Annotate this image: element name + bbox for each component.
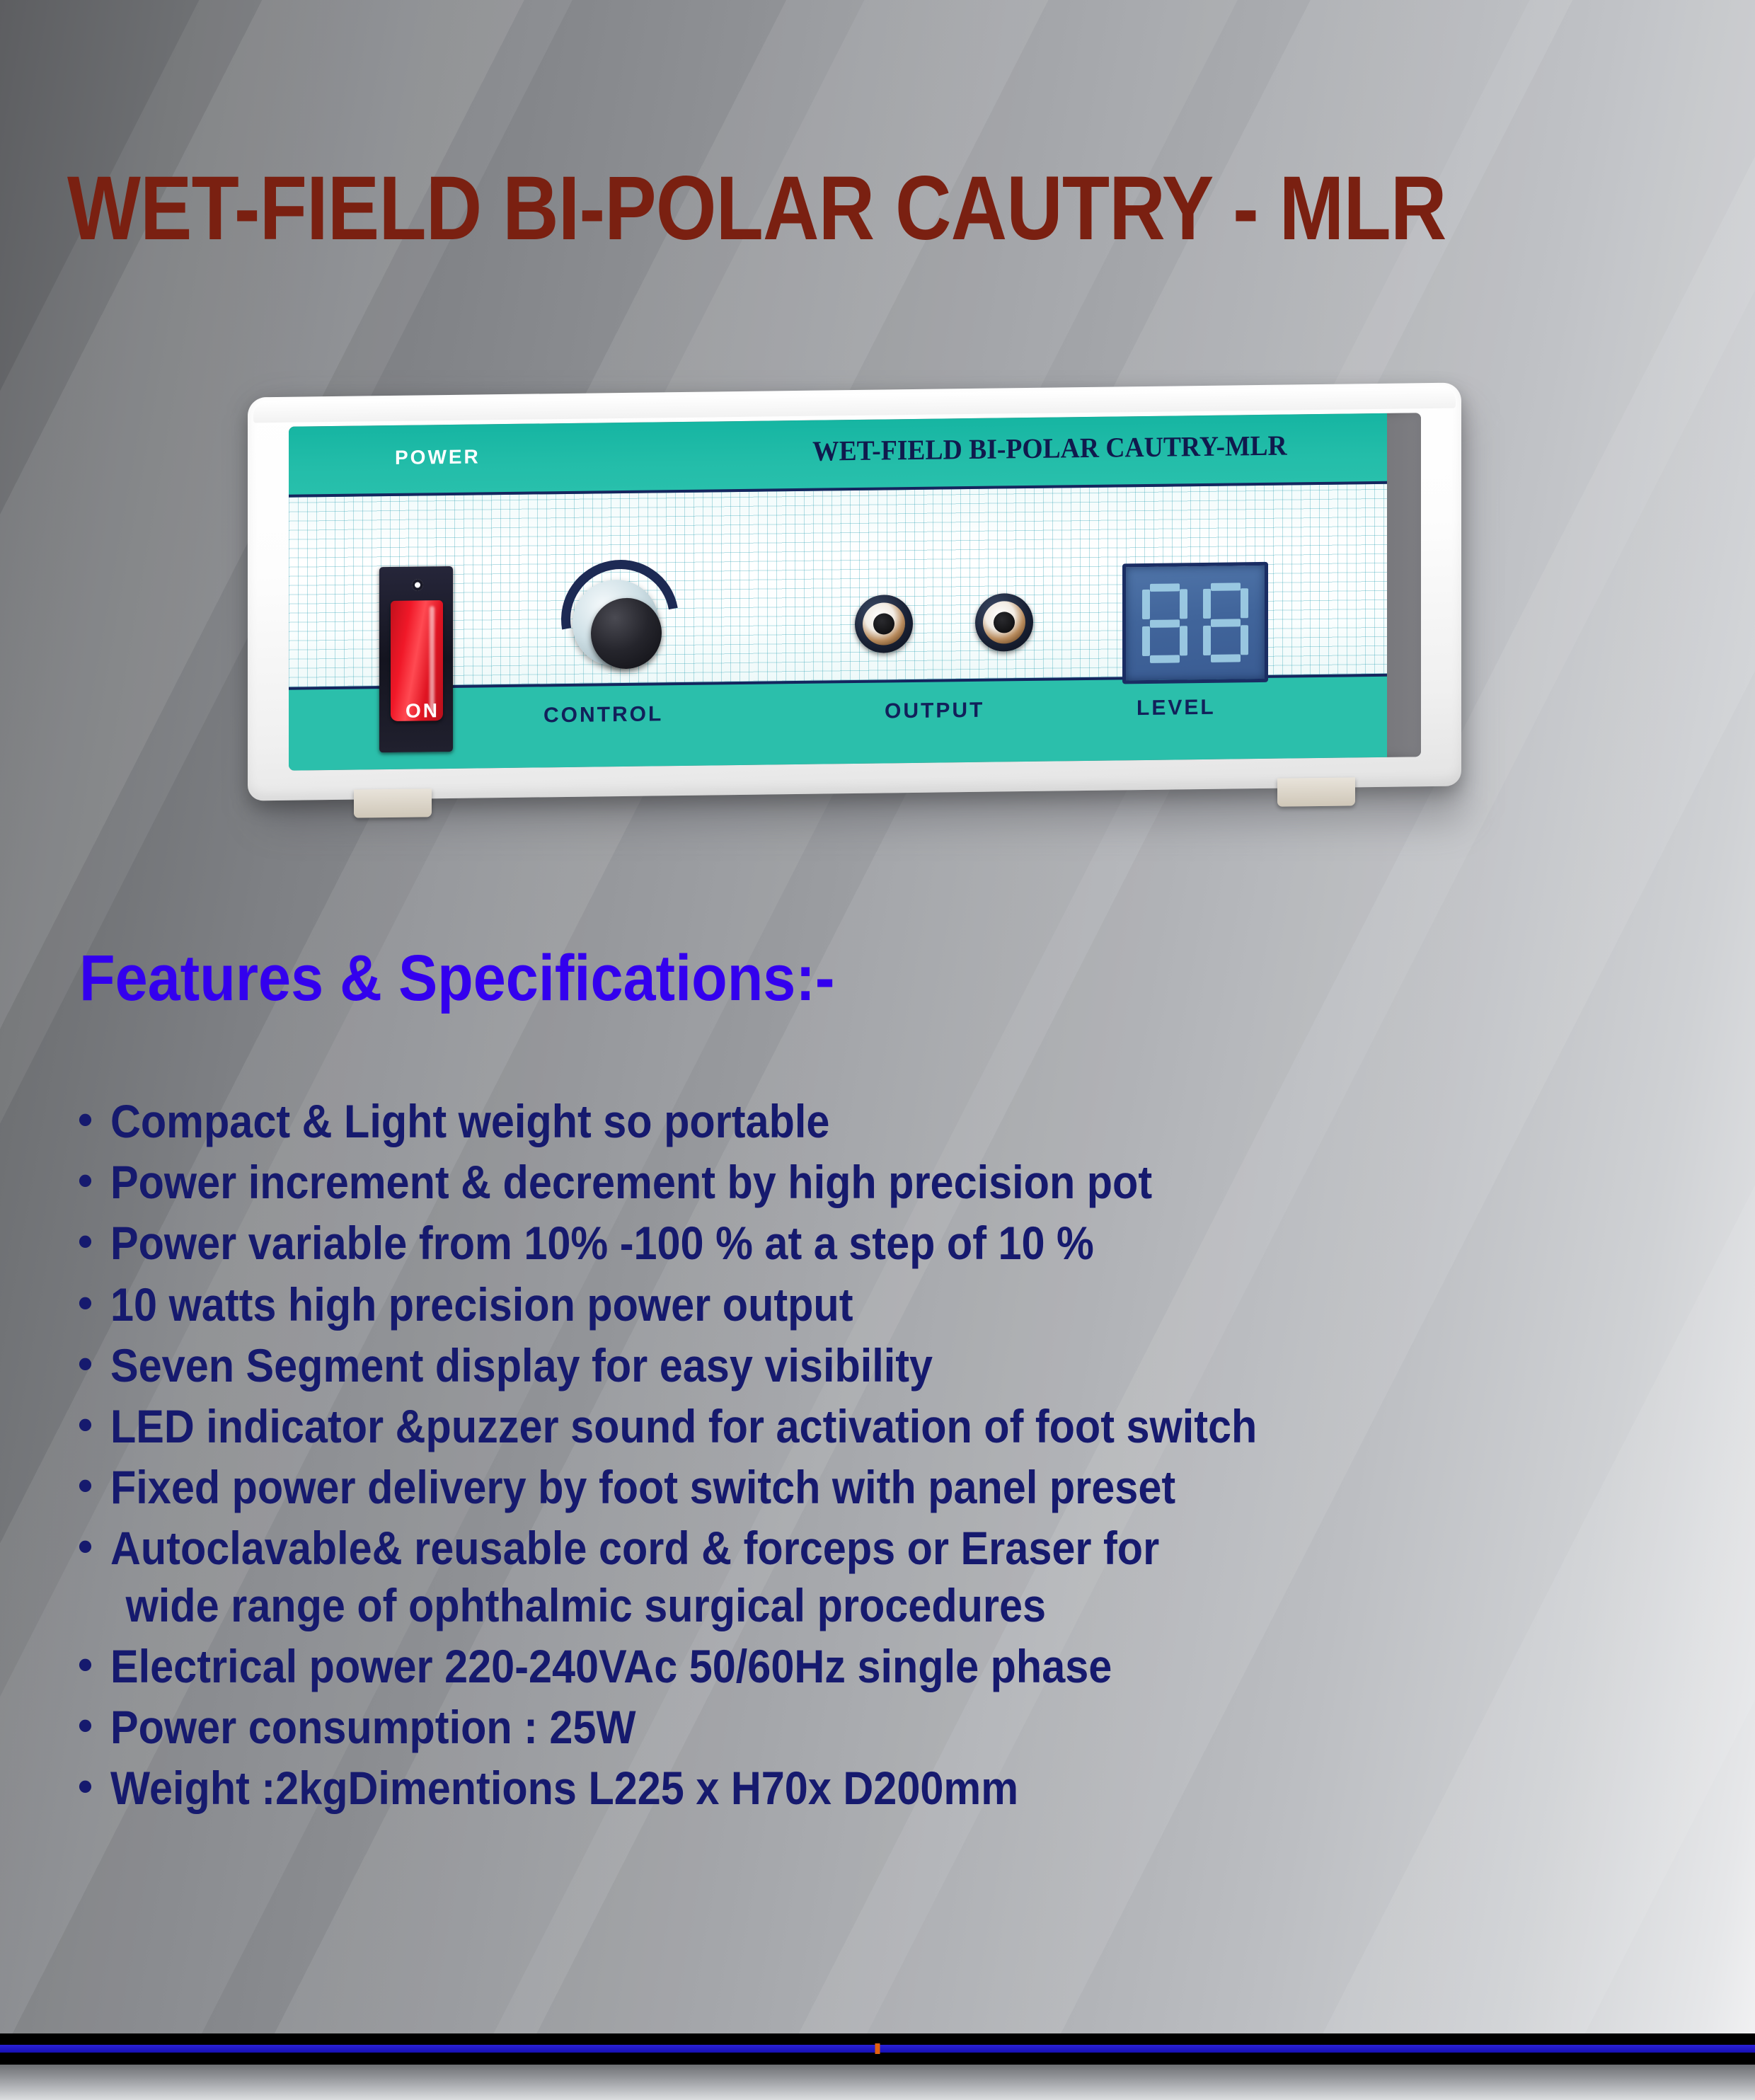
bullet-dot-icon: •: [78, 1399, 110, 1450]
output-label: OUTPUT: [885, 699, 984, 724]
panel-grid-band: CONTROL OUTPUT LEVEL: [289, 481, 1387, 690]
bullet-dot-icon: •: [78, 1520, 110, 1572]
device-enclosure: WET-FIELD BI-POLAR CAUTRY-MLR POWER: [248, 383, 1461, 801]
output-jack-1[interactable]: [855, 595, 913, 653]
feature-text: Seven Segment display for easy visibilit…: [110, 1338, 1534, 1394]
control-knob-assembly[interactable]: [561, 569, 667, 677]
feature-item: •Power variable from 10% -100 % at a ste…: [78, 1215, 1691, 1271]
feature-text: LED indicator &puzzer sound for activati…: [110, 1399, 1534, 1454]
power-label: POWER: [395, 445, 481, 469]
feature-text: Autoclavable& reusable cord & forceps or…: [110, 1520, 1534, 1576]
features-list: •Compact & Light weight so portable•Powe…: [78, 1094, 1691, 1821]
recess-shadow: [1387, 413, 1421, 757]
control-panel: WET-FIELD BI-POLAR CAUTRY-MLR POWER: [289, 413, 1387, 771]
feature-text: Weight :2kgDimentions L225 x H70x D200mm: [110, 1760, 1534, 1816]
feature-text: Fixed power delivery by foot switch with…: [110, 1459, 1534, 1515]
product-image: WET-FIELD BI-POLAR CAUTRY-MLR POWER: [234, 386, 1500, 839]
on-label: ON: [405, 699, 439, 723]
power-switch[interactable]: [379, 566, 453, 752]
seven-segment-digit: [1203, 583, 1248, 662]
device-front-recess: WET-FIELD BI-POLAR CAUTRY-MLR POWER: [289, 413, 1421, 771]
bullet-dot-icon: •: [78, 1277, 110, 1329]
feature-item: •Power increment & decrement by high pre…: [78, 1154, 1691, 1210]
feature-item: •Seven Segment display for easy visibili…: [78, 1338, 1691, 1394]
feature-item: •Weight :2kgDimentions L225 x H70x D200m…: [78, 1760, 1691, 1816]
feature-item: •Electrical power 220-240VAc 50/60Hz sin…: [78, 1639, 1691, 1694]
footer-bar: [0, 2033, 1755, 2065]
feature-text: wide range of ophthalmic surgical proced…: [110, 1578, 1534, 1634]
bullet-dot-icon: •: [78, 1215, 110, 1267]
output-jack-2[interactable]: [975, 593, 1033, 652]
seven-segment-digit: [1142, 583, 1187, 663]
device-foot-right: [1277, 777, 1355, 806]
panel-brand-label: WET-FIELD BI-POLAR CAUTRY-MLR: [812, 428, 1318, 468]
poster-background: WET-FIELD BI-POLAR CAUTRY - MLR WET-FIEL…: [0, 0, 1755, 2100]
feature-text: Compact & Light weight so portable: [110, 1094, 1534, 1149]
feature-item: •LED indicator &puzzer sound for activat…: [78, 1399, 1691, 1454]
feature-item: •Compact & Light weight so portable: [78, 1094, 1691, 1149]
feature-text: Power increment & decrement by high prec…: [110, 1154, 1534, 1210]
device-foot-left: [354, 788, 432, 817]
bullet-dot-icon: •: [78, 1459, 110, 1511]
bullet-dot-icon: •: [78, 1639, 110, 1690]
bullet-dot-icon: •: [78, 1154, 110, 1206]
feature-text: Power variable from 10% -100 % at a step…: [110, 1215, 1534, 1271]
power-indicator-dot: [412, 579, 423, 590]
bullet-dot-icon: •: [78, 1338, 110, 1389]
feature-text: Power consumption : 25W: [110, 1699, 1534, 1755]
page-title: WET-FIELD BI-POLAR CAUTRY - MLR: [67, 161, 1406, 256]
bullet-dot-icon: •: [78, 1094, 110, 1145]
feature-text: Electrical power 220-240VAc 50/60Hz sing…: [110, 1639, 1534, 1694]
knob-bezel: [572, 579, 659, 666]
footer-orange-tick: [875, 2043, 880, 2054]
footer-gradient: [0, 2065, 1755, 2100]
feature-item: •10 watts high precision power output: [78, 1277, 1691, 1333]
bullet-dot-icon: •: [78, 1760, 110, 1812]
features-heading: Features & Specifications:-: [79, 941, 834, 1016]
bullet-dot-icon: •: [78, 1699, 110, 1751]
feature-item: •wide range of ophthalmic surgical proce…: [78, 1578, 1691, 1634]
control-label: CONTROL: [543, 702, 663, 728]
feature-item: •Fixed power delivery by foot switch wit…: [78, 1459, 1691, 1515]
feature-item: •Power consumption : 25W: [78, 1699, 1691, 1755]
feature-item: •Autoclavable& reusable cord & forceps o…: [78, 1520, 1691, 1576]
level-display: [1122, 562, 1268, 684]
feature-text: 10 watts high precision power output: [110, 1277, 1534, 1333]
level-label: LEVEL: [1137, 696, 1216, 721]
